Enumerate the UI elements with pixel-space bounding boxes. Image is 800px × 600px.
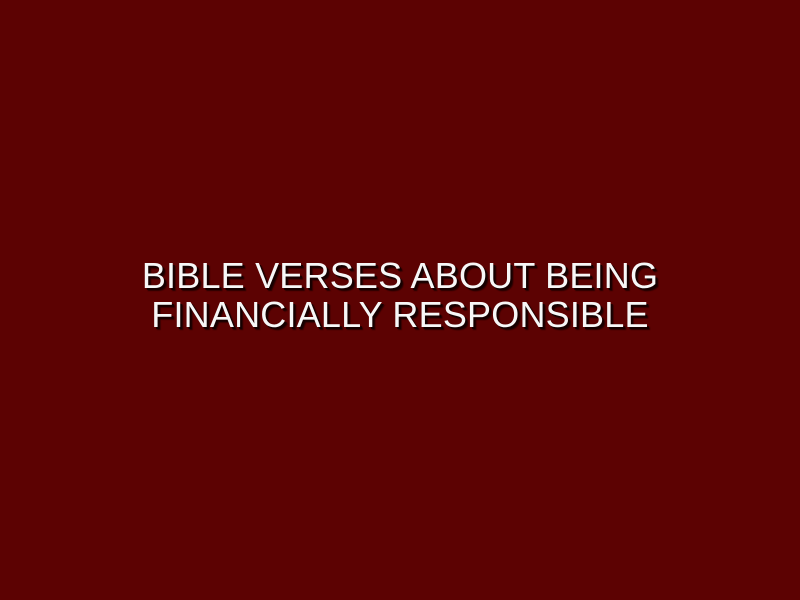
page-title: BIBLE VERSES ABOUT BEING FINANCIALLY RES…	[0, 256, 800, 334]
page-title-line-1: BIBLE VERSES ABOUT BEING	[40, 256, 760, 295]
page-title-line-2: FINANCIALLY RESPONSIBLE	[40, 295, 760, 334]
title-card-canvas: BIBLE VERSES ABOUT BEING FINANCIALLY RES…	[0, 0, 800, 600]
